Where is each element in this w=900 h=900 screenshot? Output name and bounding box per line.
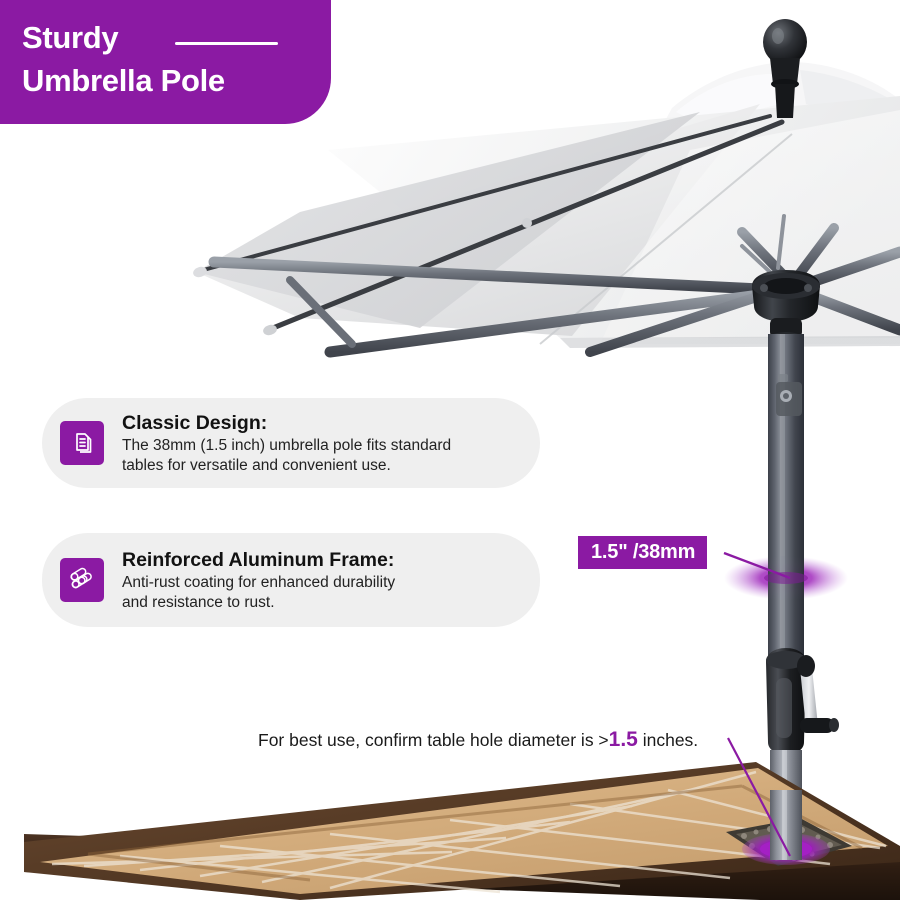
- patio-table: [24, 762, 900, 900]
- feature-description: Anti-rust coating for enhanced durabilit…: [122, 573, 395, 612]
- feature-title: Classic Design:: [122, 411, 451, 435]
- crank-mechanism: [766, 648, 839, 754]
- caption-text-after: inches.: [638, 730, 698, 750]
- documents-icon: [60, 421, 104, 465]
- infographic-canvas: Sturdy Umbrella Pole Classic Design: The…: [0, 0, 900, 900]
- crank-handle: [800, 718, 834, 733]
- page-title: Sturdy Umbrella Pole: [22, 16, 314, 102]
- caption-highlight-value: 1.5: [609, 728, 638, 751]
- feature-title: Reinforced Aluminum Frame:: [122, 548, 395, 572]
- caption-text-before: For best use, confirm table hole diamete…: [258, 730, 609, 750]
- feature-description: The 38mm (1.5 inch) umbrella pole fits s…: [122, 436, 451, 475]
- header-banner: Sturdy Umbrella Pole: [0, 0, 331, 124]
- feature-text-block: Classic Design: The 38mm (1.5 inch) umbr…: [122, 411, 465, 475]
- header-divider: [175, 42, 278, 45]
- canopy-vent-rivet: [522, 218, 532, 228]
- feature-text-block: Reinforced Aluminum Frame: Anti-rust coa…: [122, 548, 409, 612]
- aluminum-tubes-icon: [60, 558, 104, 602]
- feature-card-classic-design: Classic Design: The 38mm (1.5 inch) umbr…: [42, 398, 540, 488]
- feature-card-aluminum-frame: Reinforced Aluminum Frame: Anti-rust coa…: [42, 533, 540, 627]
- pole-diameter-badge: 1.5" /38mm: [578, 536, 707, 569]
- crank-pivot: [797, 655, 815, 677]
- table-hole-caption: For best use, confirm table hole diamete…: [258, 729, 698, 751]
